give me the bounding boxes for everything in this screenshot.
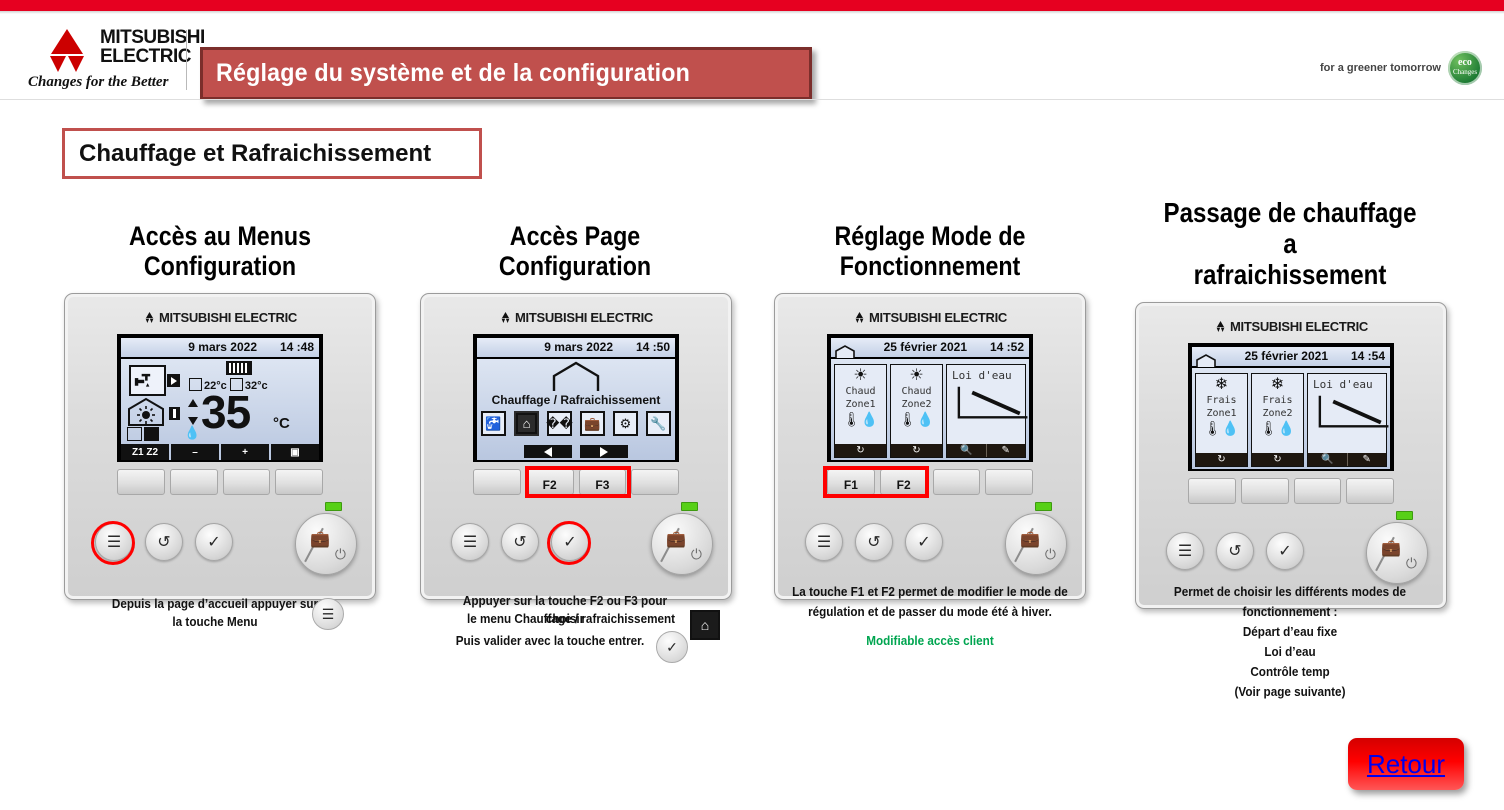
device-brand-text-4: MITSUBISHI ELECTRIC (1230, 319, 1368, 334)
caption-4-line-6: (Voir page suivante) (1158, 683, 1423, 701)
softkey-f2-f3-highlight (525, 466, 631, 498)
column-3-heading: Réglage Mode de Fonctionnement (767, 190, 1094, 281)
caption-3-line-1: La touche F1 et F2 permet de modifier le… (782, 583, 1079, 601)
lcd-statusbar-1: 9 mars 2022 14 :48 (121, 338, 319, 359)
caption-4-line-5: Contrôle temp (1158, 663, 1423, 681)
lcd-time-1: 14 :48 (280, 340, 314, 354)
caption-4-line-1: Permet de choisir les différents modes d… (1158, 583, 1423, 601)
zone-2-card[interactable]: ☀ Chaud Zone2 🌡💧 ↻ (890, 364, 943, 458)
softkey-f2-1[interactable] (170, 469, 218, 495)
lcd-menu-label-2: Chauffage / Rafraichissement (477, 393, 675, 407)
softkey-f4-4[interactable] (1346, 478, 1394, 504)
caption-house-heating-icon: ⌂ (690, 610, 720, 640)
back-button-3[interactable]: ↺ (855, 523, 893, 561)
power-symbol-icon: ⏻ (691, 546, 702, 563)
enter-button-1[interactable]: ✓ (195, 523, 233, 561)
power-button-4[interactable]: 💼 ⏻ (1366, 522, 1428, 584)
water-drop-icon: 💧 (184, 425, 200, 441)
column-4-heading-line-2: rafraichissement (1157, 260, 1424, 291)
magnifier-icon[interactable]: 🔍 (947, 444, 987, 457)
holiday-icon[interactable]: 💼 (580, 411, 605, 436)
zone-2-refresh-icon[interactable]: ↻ (891, 444, 942, 457)
section-subtitle-box: Chauffage et Rafraichissement (62, 128, 482, 179)
curve-panel-4[interactable]: Loi d'eau 🔍 ✎ (1307, 373, 1387, 467)
zone-2-card[interactable]: ❄ Frais Zone2 🌡💧 ↻ (1251, 373, 1304, 467)
edit-icon[interactable]: ✎ (1348, 453, 1387, 466)
power-led-1 (325, 502, 342, 511)
setpoint-value-1: 35 (201, 389, 250, 435)
device-brand-3: MITSUBISHI ELECTRIC (775, 310, 1085, 325)
zone2-indicator-icon (144, 427, 159, 441)
brand-line-1: MITSUBISHI (100, 28, 205, 47)
settings-icon[interactable]: ⚙ (613, 411, 638, 436)
weather-curve-icon (953, 383, 1039, 423)
lcd-screen-4: 25 février 2021 14 :54 ❄ Frais Zone1 🌡💧 … (1188, 343, 1394, 471)
mitsubishi-diamond-icon (1214, 321, 1227, 332)
snowflake-icon: ❄ (1215, 377, 1228, 393)
device-brand-1: MITSUBISHI ELECTRIC (65, 310, 375, 325)
service-icon[interactable]: 🔧 (646, 411, 671, 436)
lcd-time-3: 14 :52 (990, 340, 1024, 354)
caption-enter-icon: ✓ (656, 631, 688, 663)
lcd-nav-arrows-2 (477, 445, 675, 458)
sun-icon: ☀ (909, 368, 923, 384)
brand-tagline: Changes for the Better (28, 74, 168, 91)
logo-divider (186, 30, 187, 90)
weather-curve-icon (1314, 392, 1400, 432)
lcd-body-2: Chauffage / Rafraichissement 🚰 ⌂ �� 💼 ⚙ … (477, 359, 675, 460)
lcd-screen-2: 9 mars 2022 14 :50 Chauffage / Rafraichi… (473, 334, 679, 462)
zone-1-refresh-icon[interactable]: ↻ (1196, 453, 1247, 466)
power-symbol-icon: ⏻ (335, 546, 346, 563)
thermometer-drop-icon: 🌡💧 (1260, 421, 1295, 435)
remote-controller-1: MITSUBISHI ELECTRIC 9 mars 2022 14 :48 2… (64, 293, 376, 600)
back-button-4[interactable]: ↺ (1216, 532, 1254, 570)
softkey-f1-4[interactable] (1188, 478, 1236, 504)
house-heating-icon[interactable]: ⌂ (514, 411, 539, 436)
softkey-f4-3[interactable] (985, 469, 1033, 495)
remote-controller-4: MITSUBISHI ELECTRIC 25 février 2021 14 :… (1135, 302, 1447, 609)
device-brand-2: MITSUBISHI ELECTRIC (421, 310, 731, 325)
zone-2-line-2: Zone2 (1262, 408, 1292, 419)
caption-1: Depuis la page d’accueil appuyer sur la … (112, 595, 319, 632)
curve-panel-footer-3: 🔍 ✎ (947, 444, 1025, 457)
lcd-body-1: 22°c 32°c 💧 35 °C Z1 Z2 (121, 359, 319, 460)
power-button-3[interactable]: 💼 ⏻ (1005, 513, 1067, 575)
softkey-buttons-4 (1188, 478, 1394, 504)
snowflake-icon: ❄ (1271, 377, 1284, 393)
edit-icon[interactable]: ✎ (987, 444, 1026, 457)
house-outline-icon (834, 345, 856, 359)
lcd-zone-panels-3: ☀ Chaud Zone1 🌡💧 ↻ ☀ Chaud Zone2 🌡💧 ↻ (834, 364, 1026, 458)
pause-state-icon (169, 407, 180, 420)
remote-controller-2: MITSUBISHI ELECTRIC 9 mars 2022 14 :50 C… (420, 293, 732, 600)
lcd-date-1: 9 mars 2022 (188, 340, 257, 354)
back-button-2[interactable]: ↺ (501, 523, 539, 561)
softkey-buttons-1 (117, 469, 323, 495)
hot-water-tap-icon (129, 365, 166, 396)
menu-button-4[interactable]: ☰ (1166, 532, 1204, 570)
zone-1-card[interactable]: ☀ Chaud Zone1 🌡💧 ↻ (834, 364, 887, 458)
lcd-date-3: 25 février 2021 (884, 340, 967, 354)
page-title: Réglage du système et de la configuratio… (203, 50, 767, 97)
mitsubishi-wordmark: MITSUBISHI ELECTRIC (100, 28, 205, 66)
column-acces-page-configuration: Accès Page Configuration MITSUBISHI ELEC… (420, 190, 730, 600)
column-4-heading-line-1: Passage de chauffage a (1157, 198, 1424, 260)
lcd-screen-3: 25 février 2021 14 :52 ☀ Chaud Zone1 🌡💧 … (827, 334, 1033, 462)
softkey-f3-3[interactable] (933, 469, 981, 495)
lcd-statusbar-4: 25 février 2021 14 :54 (1192, 347, 1390, 368)
house-outline-icon (550, 361, 602, 393)
softkey-f1-2[interactable] (473, 469, 521, 495)
softkey-f1-1[interactable] (117, 469, 165, 495)
menu-button-highlight (91, 521, 135, 565)
magnifier-icon[interactable]: 🔍 (1308, 453, 1348, 466)
caption-4-line-3: Départ d’eau fixe (1158, 623, 1423, 641)
thermometer-drop-icon: 🌡💧 (1204, 421, 1239, 435)
column-acces-menus-configuration: Accès au Menus Configuration MITSUBISHI … (40, 190, 400, 600)
right-arrow-icon[interactable] (580, 445, 628, 458)
holiday-case-icon: 💼 (1381, 538, 1401, 558)
softkey-f3-1[interactable] (223, 469, 271, 495)
thermometer-drop-icon: 🌡💧 (899, 412, 934, 426)
mitsubishi-diamond-icon (143, 312, 156, 323)
softkey-f2-4[interactable] (1241, 478, 1289, 504)
softkey-f4-2[interactable] (631, 469, 679, 495)
thermometer-drop-icon: 🌡💧 (843, 412, 878, 426)
power-button-2[interactable]: 💼 ⏻ (651, 513, 713, 575)
lcd-softkey-row-1: Z1 Z2 – + ▣ (121, 444, 319, 460)
column-passage-chauffage-rafraichissement: Passage de chauffage a rafraichissement … (1135, 190, 1445, 609)
house-outline-icon (1195, 354, 1217, 368)
power-symbol-icon: ⏻ (1406, 555, 1417, 572)
column-reglage-mode-fonctionnement: Réglage Mode de Fonctionnement MITSUBISH… (740, 190, 1120, 600)
zone-1-line-1: Chaud (845, 386, 875, 397)
zone-1-refresh-icon[interactable]: ↻ (835, 444, 886, 457)
column-4-heading: Passage de chauffage a rafraichissement (1157, 190, 1424, 290)
page-title-box: Réglage du système et de la configuratio… (200, 47, 812, 100)
lcd-time-2: 14 :50 (636, 340, 670, 354)
section-subtitle: Chauffage et Rafraichissement (65, 131, 479, 176)
top-accent-bar (0, 0, 1504, 11)
softkey-label-plus[interactable]: + (221, 444, 269, 460)
holiday-case-icon: 💼 (1020, 529, 1040, 549)
zone-2-refresh-icon[interactable]: ↻ (1252, 453, 1303, 466)
device-brand-text-1: MITSUBISHI ELECTRIC (159, 310, 297, 325)
eco-changes-logo: for a greener tomorrow eco Changes (1320, 50, 1482, 86)
caption-2-line-3: Puis valider avec la touche entrer. (438, 632, 661, 650)
lcd-menu-icons-2: 🚰 ⌂ �� 💼 ⚙ 🔧 (481, 411, 671, 436)
softkey-f4-1[interactable] (275, 469, 323, 495)
caption-2-line-2: le menu Chauffage / rafraichissement (453, 610, 689, 628)
play-state-icon (167, 374, 180, 387)
power-led-4 (1396, 511, 1413, 520)
power-led-3 (1035, 502, 1052, 511)
zone-1-line-2: Zone1 (1206, 408, 1236, 419)
softkey-f3-4[interactable] (1294, 478, 1342, 504)
signal-bars-icon (226, 361, 252, 375)
zone-1-line-1: Frais (1206, 395, 1236, 406)
caption-3-line-2: régulation et de passer du mode été à hi… (782, 603, 1079, 621)
menu-button-3[interactable]: ☰ (805, 523, 843, 561)
mitsubishi-diamond-icon (499, 312, 512, 323)
retour-label: Retour (1367, 749, 1445, 780)
schedule-icon[interactable]: �� (547, 411, 572, 436)
zone-2-line-1: Frais (1262, 395, 1292, 406)
zone-2-line-2: Zone2 (901, 399, 931, 410)
curve-panel-3[interactable]: Loi d'eau 🔍 ✎ (946, 364, 1026, 458)
caption-4-line-4: Loi d’eau (1158, 643, 1423, 661)
enter-button-highlight (547, 521, 591, 565)
menu-button-2[interactable]: ☰ (451, 523, 489, 561)
curve-panel-title-4: Loi d'eau (1308, 374, 1386, 391)
power-led-2 (681, 502, 698, 511)
mitsubishi-logo: MITSUBISHI ELECTRIC Changes for the Bett… (20, 26, 192, 96)
brand-line-2: ELECTRIC (100, 47, 205, 66)
back-button-1[interactable]: ↺ (145, 523, 183, 561)
lcd-zone-panels-4: ❄ Frais Zone1 🌡💧 ↻ ❄ Frais Zone2 🌡💧 ↻ (1195, 373, 1387, 467)
eco-badge-line-2: Changes (1448, 68, 1482, 76)
zone1-indicator-icon (127, 427, 142, 441)
page-header: MITSUBISHI ELECTRIC Changes for the Bett… (0, 14, 1504, 98)
retour-button[interactable]: Retour (1348, 738, 1464, 790)
lcd-date-2: 9 mars 2022 (544, 340, 613, 354)
lcd-body-4: ❄ Frais Zone1 🌡💧 ↻ ❄ Frais Zone2 🌡💧 ↻ (1192, 368, 1390, 469)
lcd-body-3: ☀ Chaud Zone1 🌡💧 ↻ ☀ Chaud Zone2 🌡💧 ↻ (831, 359, 1029, 460)
caption-4-line-2: fonctionnement : (1158, 603, 1423, 621)
caption-menu-icon-1: ☰ (312, 598, 344, 630)
up-down-arrows-icon (187, 399, 199, 425)
eco-tagline: for a greener tomorrow (1320, 62, 1441, 74)
zone-2-line-1: Chaud (901, 386, 931, 397)
softkey-label-z1z2[interactable]: Z1 Z2 (121, 444, 169, 460)
holiday-case-icon: 💼 (310, 529, 330, 549)
lcd-date-4: 25 février 2021 (1245, 349, 1328, 363)
device-brand-4: MITSUBISHI ELECTRIC (1136, 319, 1446, 334)
lcd-statusbar-3: 25 février 2021 14 :52 (831, 338, 1029, 359)
header-divider (0, 99, 1504, 100)
remote-controller-3: MITSUBISHI ELECTRIC 25 février 2021 14 :… (774, 293, 1086, 600)
softkey-f1-f2-highlight (823, 466, 929, 498)
lcd-statusbar-2: 9 mars 2022 14 :50 (477, 338, 675, 359)
zone-1-card[interactable]: ❄ Frais Zone1 🌡💧 ↻ (1195, 373, 1248, 467)
mitsubishi-diamond-icon (853, 312, 866, 323)
device-brand-text-2: MITSUBISHI ELECTRIC (515, 310, 653, 325)
power-button-1[interactable]: 💼 ⏻ (295, 513, 357, 575)
softkey-label-minus[interactable]: – (171, 444, 219, 460)
hot-water-icon[interactable]: 🚰 (481, 411, 506, 436)
left-arrow-icon[interactable] (524, 445, 572, 458)
column-2-heading: Accès Page Configuration (442, 190, 709, 281)
mitsubishi-diamond-icon (36, 28, 98, 74)
zone-1-line-2: Zone1 (845, 399, 875, 410)
device-brand-text-3: MITSUBISHI ELECTRIC (869, 310, 1007, 325)
lcd-time-4: 14 :54 (1351, 349, 1385, 363)
house-heating-icon (127, 397, 165, 427)
setpoint-unit-1: °C (273, 415, 290, 432)
eco-badge-line-1: eco (1448, 58, 1482, 67)
lcd-screen-1: 9 mars 2022 14 :48 22°c 32°c (117, 334, 323, 462)
enter-button-4[interactable]: ✓ (1266, 532, 1304, 570)
curve-panel-footer-4: 🔍 ✎ (1308, 453, 1386, 466)
power-symbol-icon: ⏻ (1045, 546, 1056, 563)
caption-3-note: Modifiable accès client (782, 632, 1079, 650)
sun-icon: ☀ (853, 368, 867, 384)
column-1-heading: Accès au Menus Configuration (65, 190, 375, 281)
curve-panel-title-3: Loi d'eau (947, 365, 1025, 382)
softkey-label-mode[interactable]: ▣ (271, 444, 319, 460)
enter-button-3[interactable]: ✓ (905, 523, 943, 561)
eco-badge-icon: eco Changes (1448, 51, 1482, 85)
holiday-case-icon: 💼 (666, 529, 686, 549)
